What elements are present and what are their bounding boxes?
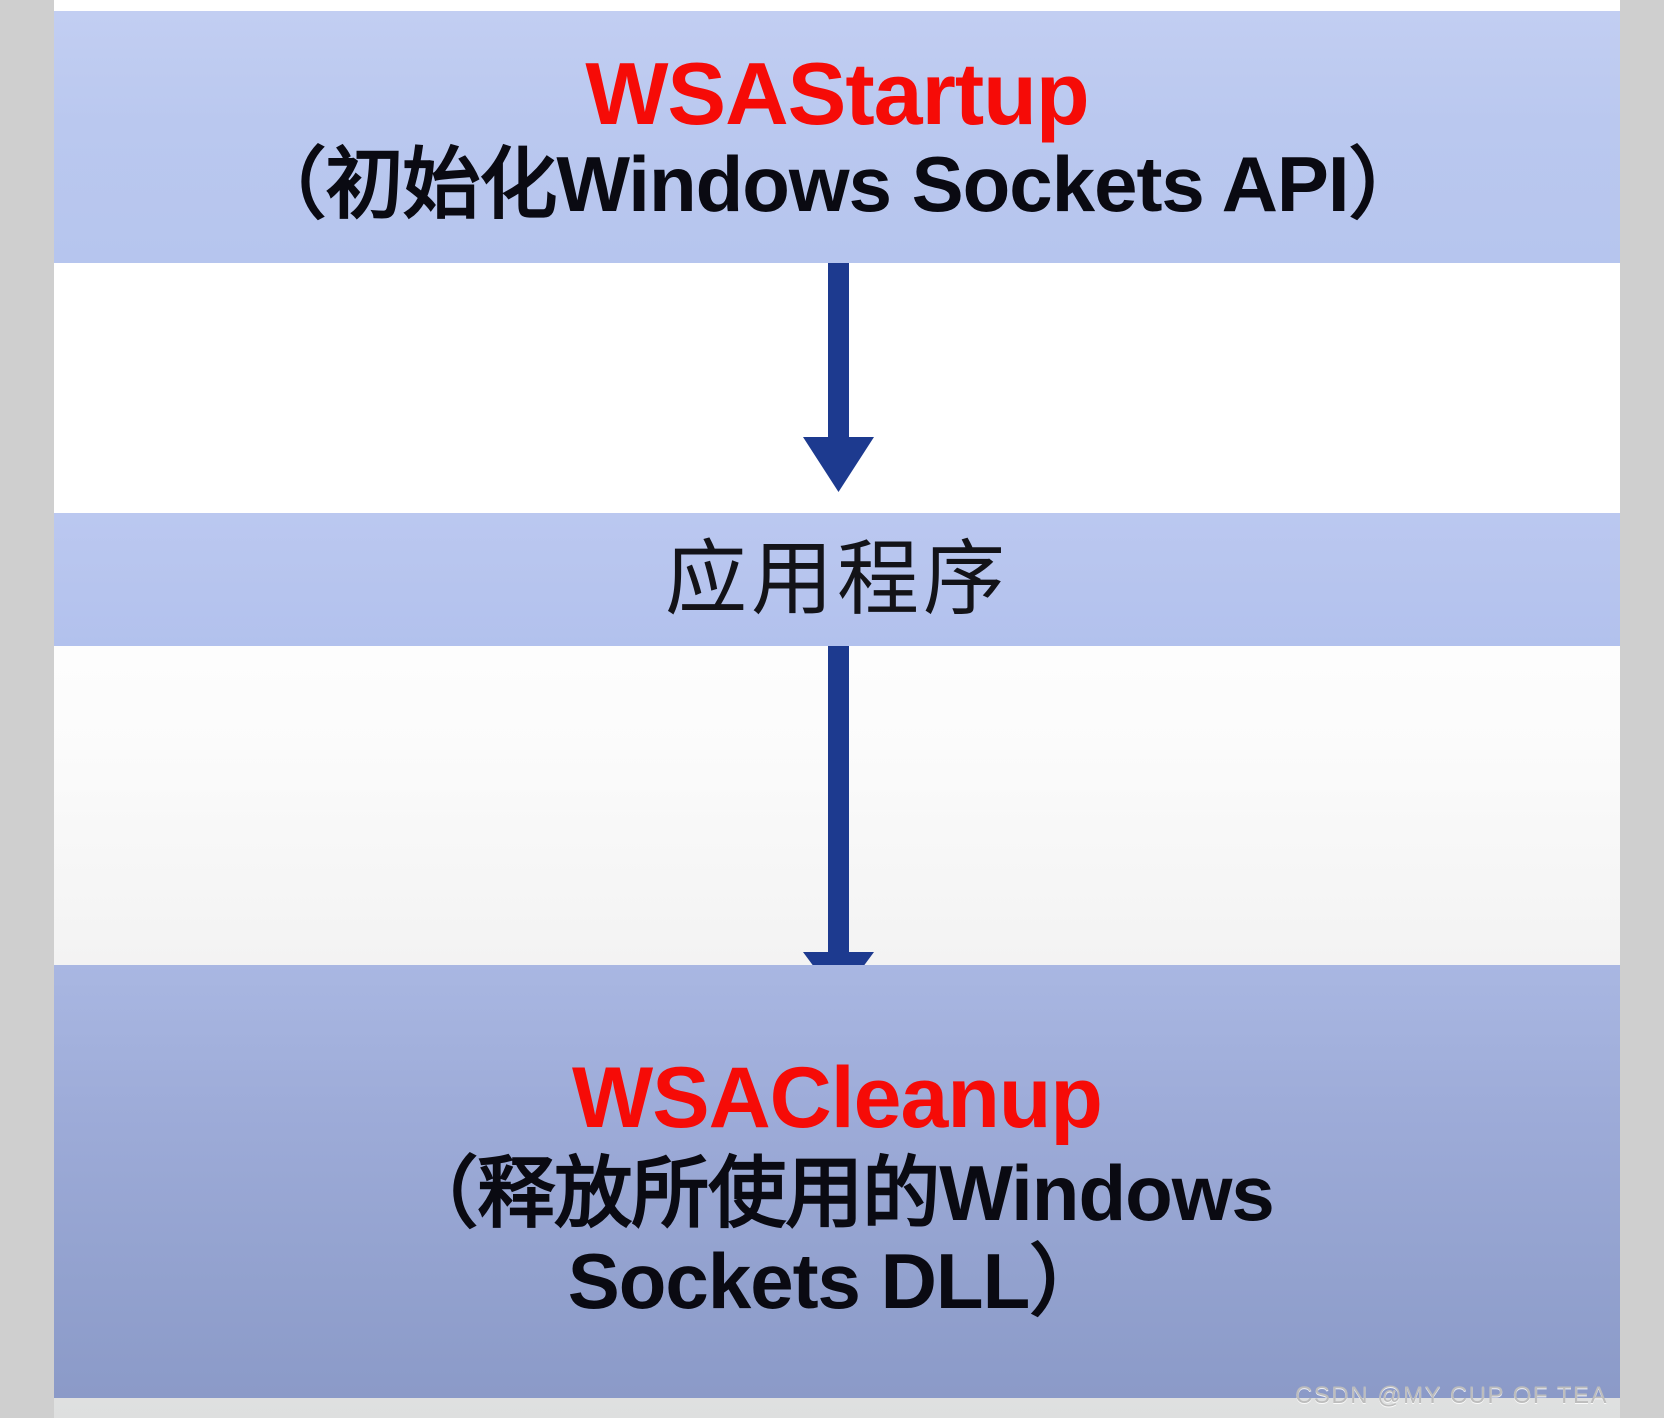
node-wsacleanup-subtitle: （释放所使用的Windows Sockets DLL） [400,1150,1274,1325]
watermark-text: CSDN @MY CUP OF TEA [1295,1382,1608,1410]
node-wsacleanup-subtitle-line2: Sockets DLL） [400,1238,1274,1325]
node-wsacleanup-title: WSACleanup [572,1052,1102,1144]
diagram-canvas: WSAStartup （初始化Windows Sockets API） 应用程序… [0,0,1664,1418]
node-wsacleanup[interactable]: WSACleanup （释放所使用的Windows Sockets DLL） [54,965,1620,1398]
node-wsacleanup-subtitle-line1: （释放所使用的Windows [400,1150,1274,1237]
